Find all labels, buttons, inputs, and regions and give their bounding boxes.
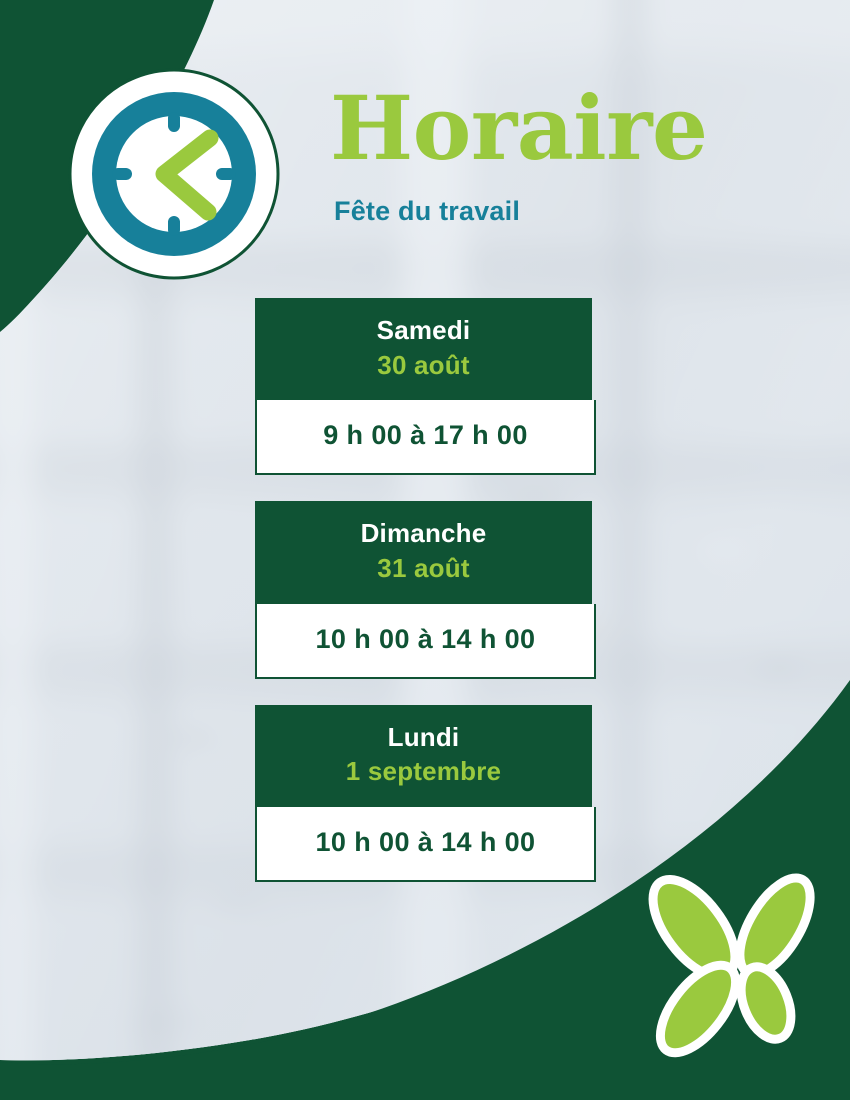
schedule-date: 31 août [265, 552, 582, 586]
schedule-card-header: Samedi 30 août [255, 298, 592, 400]
poster-canvas: Horaire Fête du travail Samedi 30 août 9… [0, 0, 850, 1100]
schedule-card-header: Dimanche 31 août [255, 501, 592, 603]
schedule-hours: 9 h 00 à 17 h 00 [265, 420, 586, 451]
butterfly-logo-icon [636, 870, 832, 1066]
schedule-hours: 10 h 00 à 14 h 00 [265, 624, 586, 655]
clock-icon [68, 68, 280, 280]
schedule-card-header: Lundi 1 septembre [255, 705, 592, 807]
schedule-day: Dimanche [265, 517, 582, 550]
schedule-card-hours-box: 9 h 00 à 17 h 00 [255, 400, 596, 475]
title-block: Horaire Fête du travail [330, 84, 708, 227]
schedule-card: Dimanche 31 août 10 h 00 à 14 h 00 [255, 501, 600, 678]
schedule-hours: 10 h 00 à 14 h 00 [265, 827, 586, 858]
schedule-card: Lundi 1 septembre 10 h 00 à 14 h 00 [255, 705, 600, 882]
page-subtitle: Fête du travail [334, 196, 708, 227]
schedule-day: Samedi [265, 314, 582, 347]
schedule-list: Samedi 30 août 9 h 00 à 17 h 00 Dimanche… [255, 298, 600, 882]
page-title: Horaire [330, 84, 708, 174]
schedule-date: 30 août [265, 349, 582, 383]
schedule-date: 1 septembre [265, 755, 582, 789]
poster-header: Horaire Fête du travail [0, 0, 850, 290]
schedule-card-hours-box: 10 h 00 à 14 h 00 [255, 807, 596, 882]
schedule-card: Samedi 30 août 9 h 00 à 17 h 00 [255, 298, 600, 475]
schedule-day: Lundi [265, 721, 582, 754]
schedule-card-hours-box: 10 h 00 à 14 h 00 [255, 604, 596, 679]
